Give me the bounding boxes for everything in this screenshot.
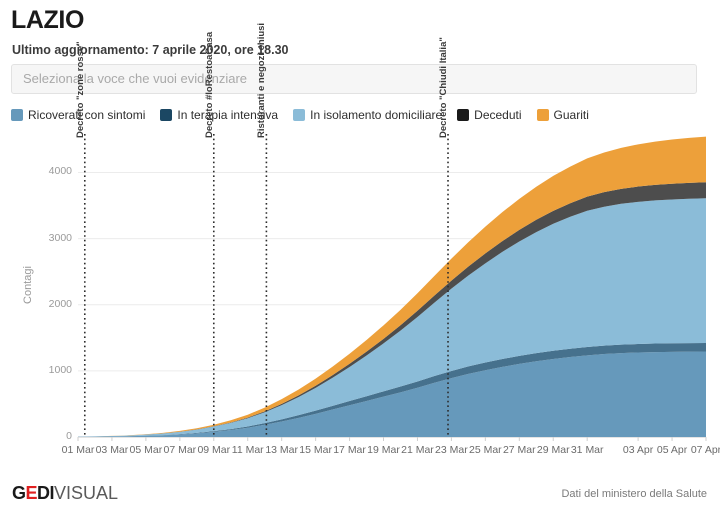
legend-swatch-icon [537,109,549,121]
legend-label: In isolamento domiciliare [310,108,442,122]
logo-e: E [26,483,38,503]
page-title: LAZIO [11,6,84,35]
gedi-visual-logo: GEDIVISUAL [12,483,118,504]
legend-item[interactable]: In isolamento domiciliare [293,108,442,122]
last-update-subtitle: Ultimo aggiornamento: 7 aprile 2020, ore… [12,43,288,57]
annotation-label: Decreto #IoRestoaCasa [204,32,215,138]
logo-di: DI [37,483,54,503]
legend-swatch-icon [11,109,23,121]
highlight-select[interactable]: Seleziona la voce che vuoi evidenziare [11,64,697,94]
x-axis-tick-label: 07 Apr [681,444,720,456]
logo-visual: VISUAL [54,483,118,503]
legend-label: Guariti [554,108,589,122]
logo-g: G [12,483,26,503]
y-axis-tick-label: 4000 [32,165,72,177]
source-note: Dati del ministero della Salute [561,488,707,500]
legend-label: Ricoverati con sintomi [28,108,145,122]
y-axis-tick-label: 3000 [32,232,72,244]
legend-label: Deceduti [474,108,521,122]
legend-swatch-icon [457,109,469,121]
chart-legend: Ricoverati con sintomiIn terapia intensi… [11,108,589,122]
annotation-label: Decreto "zone rosse" [75,41,86,138]
annotation-label: Ristoranti e negozi chiusi [256,23,267,138]
y-axis-tick-label: 0 [32,430,72,442]
y-axis-tick-label: 1000 [32,364,72,376]
annotation-label: Decreto "Chiudi Italia" [438,37,449,138]
chart-area: Contagi [0,134,720,464]
legend-swatch-icon [293,109,305,121]
x-axis-tick-label: 31 Mar [562,444,612,456]
legend-item[interactable]: Deceduti [457,108,521,122]
legend-item[interactable]: Guariti [537,108,589,122]
legend-swatch-icon [160,109,172,121]
footer: GEDIVISUAL Dati del ministero della Salu… [0,480,720,515]
y-axis-tick-label: 2000 [32,298,72,310]
